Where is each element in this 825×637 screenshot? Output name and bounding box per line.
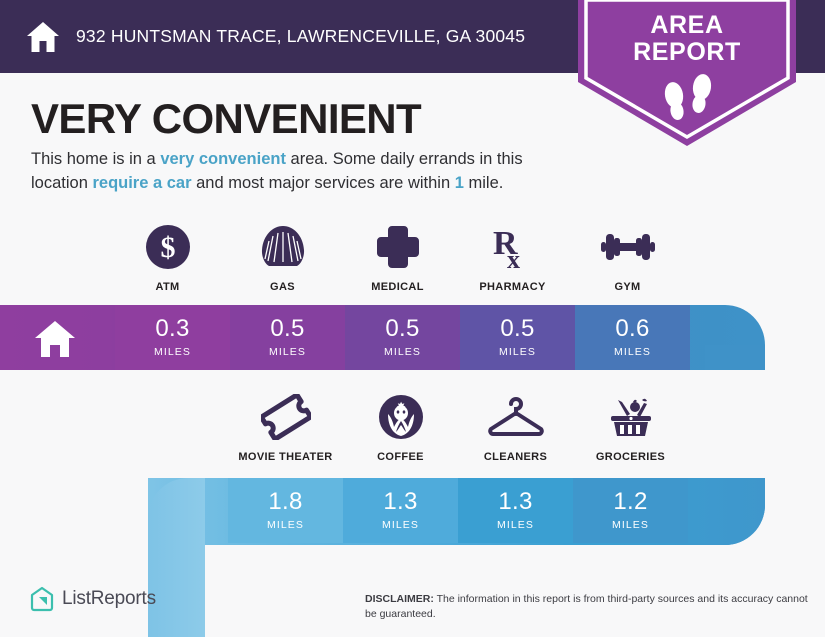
distance-unit: MILES [384,346,421,358]
poi-pharmacy: R x PHARMACY [455,222,570,293]
distance-value: 1.3 [498,490,532,514]
basket-icon [606,392,656,442]
poi-label: MOVIE THEATER [238,451,332,463]
distance-unit: MILES [497,519,534,531]
logo-text: ListReports [62,588,156,610]
distance-unit: MILES [499,346,536,358]
dollar-circle-icon: $ [145,222,191,272]
distance-unit: MILES [154,346,191,358]
distance-value: 0.3 [155,317,189,341]
poi-label: PHARMACY [479,281,545,293]
distance-value: 1.8 [268,490,302,514]
svg-text:$: $ [160,231,175,264]
poi-gas: GAS [225,222,340,293]
poi-label: GYM [614,281,640,293]
distance-value: 1.3 [383,490,417,514]
distance-cell: 0.5 MILES [345,305,460,370]
listreports-house-icon [30,586,54,612]
poi-movie-theater: MOVIE THEATER [228,392,343,463]
distance-unit: MILES [612,519,649,531]
svg-text:x: x [507,245,520,270]
distance-cell: 1.2 MILES [573,478,688,543]
distance-value: 1.2 [613,490,647,514]
disclaimer-label: DISCLAIMER: [365,593,434,605]
shell-icon [259,222,307,272]
distance-value: 0.5 [385,317,419,341]
distance-unit: MILES [269,346,306,358]
distance-value: 0.5 [270,317,304,341]
dumbbell-icon [601,222,655,272]
rx-icon: R x [491,222,535,272]
distance-unit: MILES [614,346,651,358]
poi-medical: MEDICAL [340,222,455,293]
distance-value: 0.6 [615,317,649,341]
home-marker [34,320,76,363]
medical-cross-icon [375,222,421,272]
distance-cell: 0.5 MILES [230,305,345,370]
area-report-badge: AREA REPORT [578,0,796,146]
poi-label: CLEANERS [484,451,547,463]
distance-cell: 1.3 MILES [343,478,458,543]
poi-cleaners: CLEANERS [458,392,573,463]
distance-cell: 0.5 MILES [460,305,575,370]
listreports-logo: ListReports [30,586,156,612]
distance-cell: 1.8 MILES [228,478,343,543]
distance-cell: 0.6 MILES [575,305,690,370]
disclaimer: DISCLAIMER: The information in this repo… [365,592,810,622]
poi-label: ATM [155,281,179,293]
poi-atm: $ ATM [110,222,225,293]
poi-label: GROCERIES [596,451,665,463]
distance-value: 0.5 [500,317,534,341]
poi-coffee: COFFEE [343,392,458,463]
distance-unit: MILES [382,519,419,531]
icon-row-essentials: $ ATM GAS MEDICAL [110,222,685,293]
poi-gym: GYM [570,222,685,293]
movie-ticket-icon [261,392,311,442]
distance-row-lifestyle: 1.8 MILES 1.3 MILES 1.3 MILES 1.2 MILES [228,478,688,543]
distance-cell: 0.3 MILES [115,305,230,370]
starbucks-icon [378,392,424,442]
poi-label: GAS [270,281,295,293]
poi-label: COFFEE [377,451,424,463]
distance-row-essentials: 0.3 MILES 0.5 MILES 0.5 MILES 0.5 MILES … [115,305,690,370]
icon-row-lifestyle: MOVIE THEATER COFFEE [228,392,688,463]
distance-cell: 1.3 MILES [458,478,573,543]
hanger-icon [488,392,544,442]
poi-groceries: GROCERIES [573,392,688,463]
distance-unit: MILES [267,519,304,531]
poi-label: MEDICAL [371,281,424,293]
